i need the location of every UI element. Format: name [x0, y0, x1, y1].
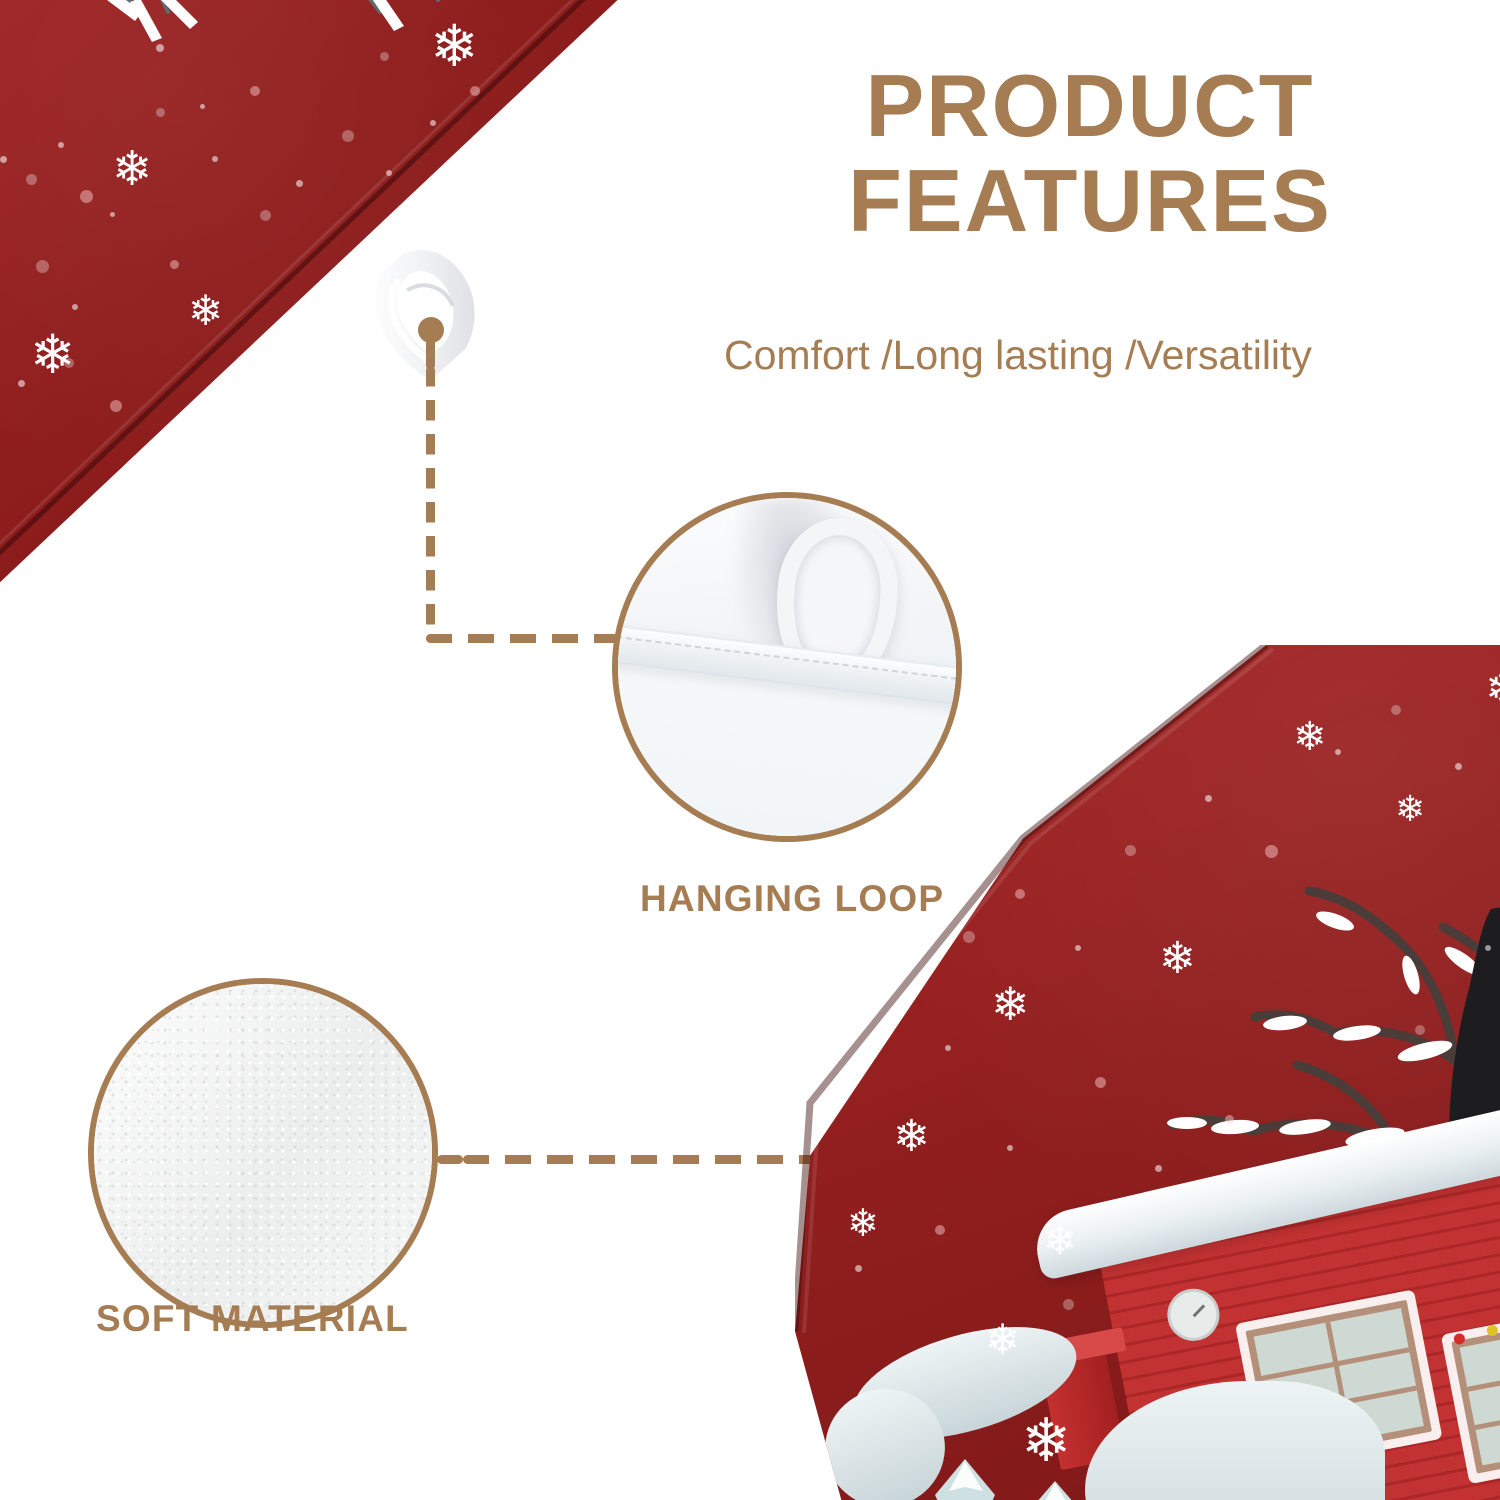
snow-speck: [1015, 889, 1025, 899]
snow-speck: [1225, 1115, 1234, 1124]
snow-speck: [1125, 845, 1136, 856]
pine-sprig-icon: [500, 0, 680, 40]
snow-speck: [1075, 945, 1081, 951]
snowflake-icon: ❄: [1043, 1221, 1077, 1261]
snowflake-icon: ❄: [430, 18, 479, 76]
snowflake-icon: ❄: [30, 328, 75, 382]
callout-hanging-loop[interactable]: [612, 492, 962, 842]
snow-speck: [1485, 945, 1491, 951]
snowflake-icon: ❄: [1485, 665, 1500, 711]
snowflake-icon: ❄: [1293, 717, 1327, 757]
snow-speck: [260, 210, 271, 221]
snow-speck: [170, 260, 179, 269]
snow-speck: [1095, 1077, 1106, 1088]
snow-speck: [110, 212, 115, 217]
callout-caption-soft-material: SOFT MATERIAL: [96, 1298, 409, 1340]
infographic-canvas: ❄ ❄ ❄ ❄ ❄ ❄: [0, 0, 1500, 1500]
title-line-2: FEATURES: [700, 153, 1480, 248]
snow-speck: [342, 130, 354, 142]
connector-stub-hanging-loop: [426, 330, 435, 370]
snow-speck: [1155, 1165, 1162, 1172]
snowflake-icon: ❄: [893, 1115, 930, 1159]
snow-speck: [250, 86, 260, 96]
snow-speck: [200, 104, 205, 109]
snow-speck: [212, 156, 218, 162]
hanging-loop-detail-image: [618, 498, 956, 836]
snow-speck: [1455, 763, 1462, 770]
snowflake-icon: ❄: [945, 833, 987, 883]
snow-speck: [296, 180, 303, 187]
snow-speck: [1335, 749, 1341, 755]
connector-stub-soft-material: [437, 1155, 463, 1164]
snow-speck: [963, 931, 975, 943]
snow-speck: [72, 304, 78, 310]
snow-speck: [1205, 795, 1212, 802]
snowflake-icon: ❄: [847, 1205, 879, 1243]
snow-speck: [1265, 845, 1278, 858]
snow-speck: [1063, 1299, 1074, 1310]
snowflake-icon: ❄: [112, 146, 152, 194]
snow-speck: [945, 1045, 951, 1051]
title-line-1: PRODUCT: [700, 58, 1480, 153]
snow-speck: [36, 260, 49, 273]
snow-speck: [380, 52, 389, 61]
snow-speck: [58, 142, 64, 148]
connector-line-horizontal-hanging-loop: [426, 634, 626, 643]
callout-soft-material[interactable]: [88, 978, 438, 1328]
snow-speck: [110, 400, 122, 412]
snow-speck: [855, 1265, 862, 1272]
snow-speck: [80, 190, 93, 203]
snow-speck: [386, 170, 392, 176]
snow-speck: [26, 174, 37, 185]
snowflake-icon: ❄: [985, 1319, 1020, 1361]
snow-speck: [156, 108, 165, 117]
snow-speck: [1007, 1145, 1013, 1151]
soft-material-detail-image: [94, 984, 432, 1322]
snowflake-icon: ❄: [188, 290, 223, 332]
snowy-pine-icon: [905, 1445, 1135, 1500]
snowflake-icon: ❄: [1395, 791, 1425, 827]
snow-speck: [156, 44, 164, 52]
snowflake-icon: ❄: [1159, 937, 1196, 981]
snow-speck: [885, 1015, 897, 1027]
snow-speck: [1415, 1025, 1425, 1035]
snow-speck: [935, 1225, 945, 1235]
callout-caption-hanging-loop: HANGING LOOP: [640, 878, 944, 920]
snow-speck: [0, 156, 7, 163]
snowflake-icon: ❄: [991, 981, 1030, 1027]
snowflake-icon: ❄: [290, 0, 319, 4]
connector-line-vertical-hanging-loop: [426, 366, 435, 638]
snow-speck: [64, 358, 74, 368]
product-image-fabric-top-left: ❄ ❄ ❄ ❄ ❄ ❄: [0, 0, 660, 620]
snow-speck: [430, 120, 436, 126]
pine-sprig-icon: [40, 0, 270, 64]
page-title: PRODUCT FEATURES: [700, 58, 1480, 248]
snowflake-icon: ❄: [1021, 1411, 1071, 1471]
snow-speck: [1391, 705, 1401, 715]
page-subtitle: Comfort /Long lasting /Versatility: [724, 332, 1312, 379]
snow-speck: [470, 86, 480, 96]
snow-speck: [18, 380, 25, 387]
